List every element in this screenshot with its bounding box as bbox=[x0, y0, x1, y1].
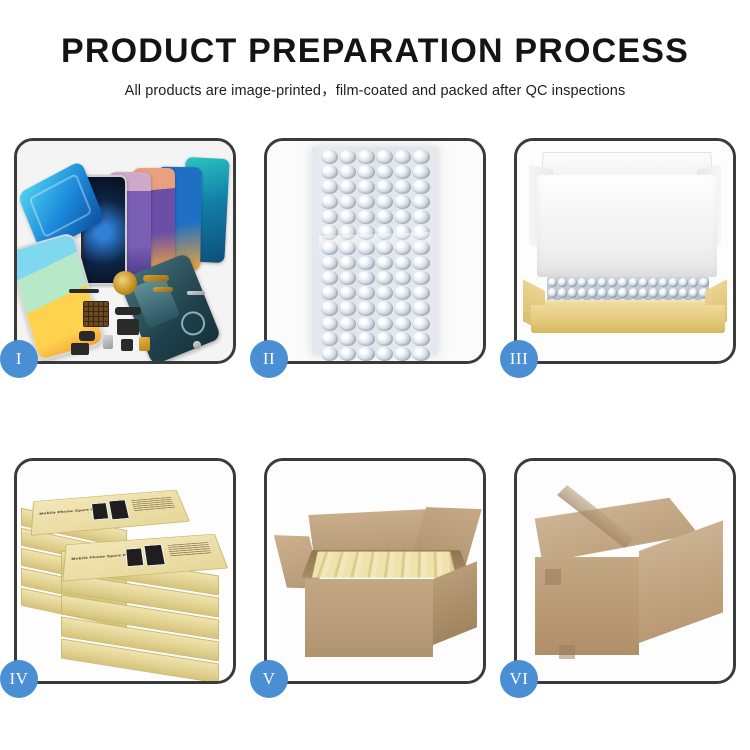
flex-cable-part-b bbox=[153, 287, 173, 292]
process-step-5: V bbox=[264, 458, 486, 684]
carton-tab-upper bbox=[545, 569, 561, 585]
spare-parts-cluster bbox=[69, 271, 209, 357]
page-subtitle: All products are image-printed，film-coat… bbox=[0, 79, 750, 100]
flex-ribbon-part bbox=[117, 319, 139, 335]
flex-cable-part-a bbox=[143, 275, 169, 282]
step-2-illustration bbox=[267, 141, 483, 361]
step-4-illustration: Mobile Phone Spare Parts bbox=[17, 461, 233, 681]
speaker-coil-part bbox=[113, 271, 137, 295]
step-1-illustration bbox=[17, 141, 233, 361]
box-artwork-screen-front-b bbox=[143, 544, 165, 566]
screw-part bbox=[193, 341, 201, 349]
retail-box-stack: Mobile Phone Spare Parts bbox=[19, 471, 233, 671]
box-front-panel bbox=[531, 305, 725, 333]
process-step-2: II bbox=[264, 138, 486, 364]
process-step-6: VI bbox=[514, 458, 736, 684]
step-badge-4: IV bbox=[0, 660, 38, 698]
page-title: PRODUCT PREPARATION PROCESS bbox=[0, 34, 750, 70]
process-step-3: III bbox=[514, 138, 736, 364]
carton-tab-lower bbox=[559, 645, 575, 659]
battery-connector-part bbox=[139, 337, 150, 351]
camera-module-part bbox=[71, 343, 89, 355]
foam-lining bbox=[537, 175, 717, 277]
process-step-1: I bbox=[14, 138, 236, 364]
step-badge-5: V bbox=[250, 660, 288, 698]
box-artwork-screen-rear-a bbox=[91, 502, 109, 520]
step-badge-6: VI bbox=[500, 660, 538, 698]
box-artwork-screen-front-a bbox=[125, 548, 144, 567]
retail-boxes-inside-carton bbox=[312, 552, 456, 578]
earpiece-part bbox=[69, 289, 99, 293]
box-spec-lines-front bbox=[168, 542, 212, 557]
process-step-grid: I bbox=[14, 138, 736, 684]
bubble-wrap-sheet bbox=[312, 147, 438, 355]
connector-part bbox=[115, 307, 141, 315]
vibrator-part bbox=[79, 331, 95, 341]
sim-tray-part bbox=[103, 335, 113, 349]
step-5-illustration bbox=[267, 461, 483, 681]
button-part bbox=[121, 339, 133, 351]
step-badge-3: III bbox=[500, 340, 538, 378]
process-step-4: Mobile Phone Spare Parts bbox=[14, 458, 236, 684]
step-badge-2: II bbox=[250, 340, 288, 378]
chip-array-part bbox=[83, 301, 109, 327]
antenna-strip-part bbox=[187, 291, 205, 295]
box-spec-lines-rear bbox=[131, 497, 175, 512]
step-badge-1: I bbox=[0, 340, 38, 378]
carton-front-panel bbox=[305, 579, 433, 657]
infographic-page: PRODUCT PREPARATION PROCESS All products… bbox=[0, 0, 750, 750]
step-3-illustration bbox=[517, 141, 733, 361]
header: PRODUCT PREPARATION PROCESS All products… bbox=[0, 0, 750, 100]
step-6-illustration bbox=[517, 461, 733, 681]
box-artwork-screen-rear-b bbox=[108, 499, 130, 520]
